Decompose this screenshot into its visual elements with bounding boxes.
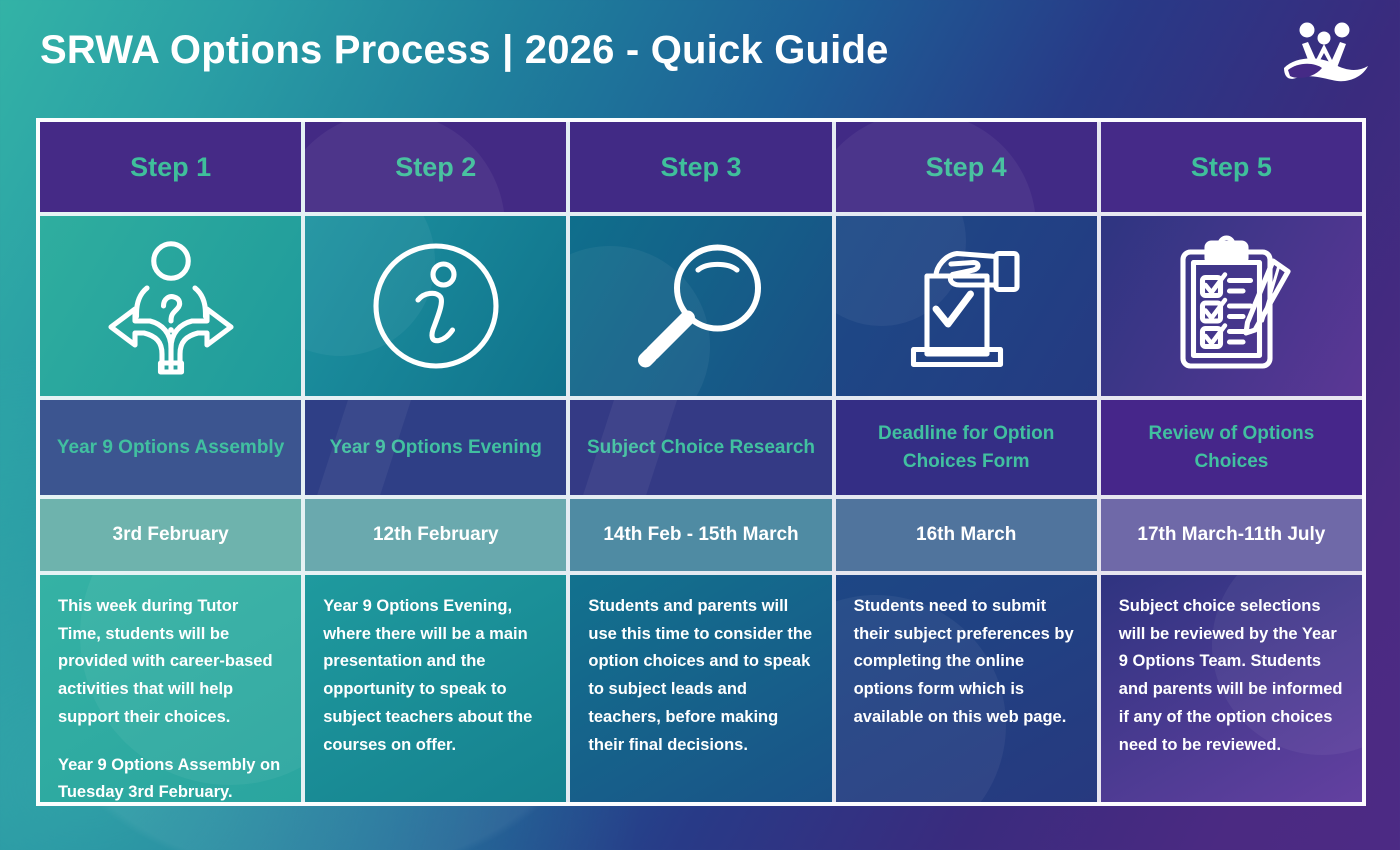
page-header: SRWA Options Process | 2026 - Quick Guid… [0, 0, 1400, 110]
icon-cell-5 [1101, 216, 1362, 396]
hand-ballot-check-icon [891, 231, 1041, 381]
step-header-3: Step 3 [570, 122, 831, 212]
step-name-cell-4: Deadline for Option Choices Form [836, 400, 1097, 495]
step-name-cell-5: Review of Options Choices [1101, 400, 1362, 495]
options-process-table: Step 1 Step 2 Step 3 Step 4 Step 5 [36, 118, 1366, 806]
step-date-2: 12th February [373, 524, 499, 546]
step-name-cell-2: Year 9 Options Evening [305, 400, 566, 495]
step-name-5: Review of Options Choices [1115, 420, 1348, 475]
information-circle-icon [361, 231, 511, 381]
step-body-cell-3: Students and parents will use this time … [570, 575, 831, 802]
person-question-arrows-icon [96, 231, 246, 381]
srwa-crown-wave-logo [1276, 16, 1372, 94]
step-header-1: Step 1 [40, 122, 301, 212]
step-header-5: Step 5 [1101, 122, 1362, 212]
clipboard-checklist-pencil-icon [1156, 231, 1306, 381]
icon-cell-3 [570, 216, 831, 396]
step-body-paragraph: This week during Tutor Time, students wi… [58, 593, 285, 732]
step-label-3: Step 3 [660, 152, 741, 183]
step-header-4: Step 4 [836, 122, 1097, 212]
step-date-cell-4: 16th March [836, 499, 1097, 571]
step-name-cell-3: Subject Choice Research [570, 400, 831, 495]
step-body-cell-2: Year 9 Options Evening, where there will… [305, 575, 566, 802]
step-date-cell-1: 3rd February [40, 499, 301, 571]
step-body-paragraph: Subject choice selections will be review… [1119, 593, 1346, 759]
step-body-cell-5: Subject choice selections will be review… [1101, 575, 1362, 802]
step-date-3: 14th Feb - 15th March [603, 524, 798, 546]
step-date-4: 16th March [916, 524, 1016, 546]
step-body-paragraph: Students and parents will use this time … [588, 593, 815, 759]
step-date-cell-2: 12th February [305, 499, 566, 571]
icon-cell-1 [40, 216, 301, 396]
step-date-cell-3: 14th Feb - 15th March [570, 499, 831, 571]
step-name-cell-1: Year 9 Options Assembly [40, 400, 301, 495]
step-body-cell-1: This week during Tutor Time, students wi… [40, 575, 301, 802]
step-label-1: Step 1 [130, 152, 211, 183]
step-date-cell-5: 17th March-11th July [1101, 499, 1362, 571]
icon-cell-2 [305, 216, 566, 396]
step-body-paragraph: Year 9 Options Evening, where there will… [323, 593, 550, 759]
step-body-paragraph: Year 9 Options Assembly on Tuesday 3rd F… [58, 752, 285, 802]
step-body-paragraph: Students need to submit their subject pr… [854, 593, 1081, 732]
step-name-4: Deadline for Option Choices Form [850, 420, 1083, 475]
step-date-1: 3rd February [113, 524, 229, 546]
decorative-blob [305, 122, 505, 212]
icon-cell-4 [836, 216, 1097, 396]
step-date-5: 17th March-11th July [1137, 524, 1325, 546]
magnifying-glass-icon [626, 231, 776, 381]
step-body-cell-4: Students need to submit their subject pr… [836, 575, 1097, 802]
page-title: SRWA Options Process | 2026 - Quick Guid… [40, 28, 889, 73]
step-header-2: Step 2 [305, 122, 566, 212]
decorative-blob [836, 122, 1036, 212]
step-label-5: Step 5 [1191, 152, 1272, 183]
step-name-1: Year 9 Options Assembly [57, 434, 284, 462]
